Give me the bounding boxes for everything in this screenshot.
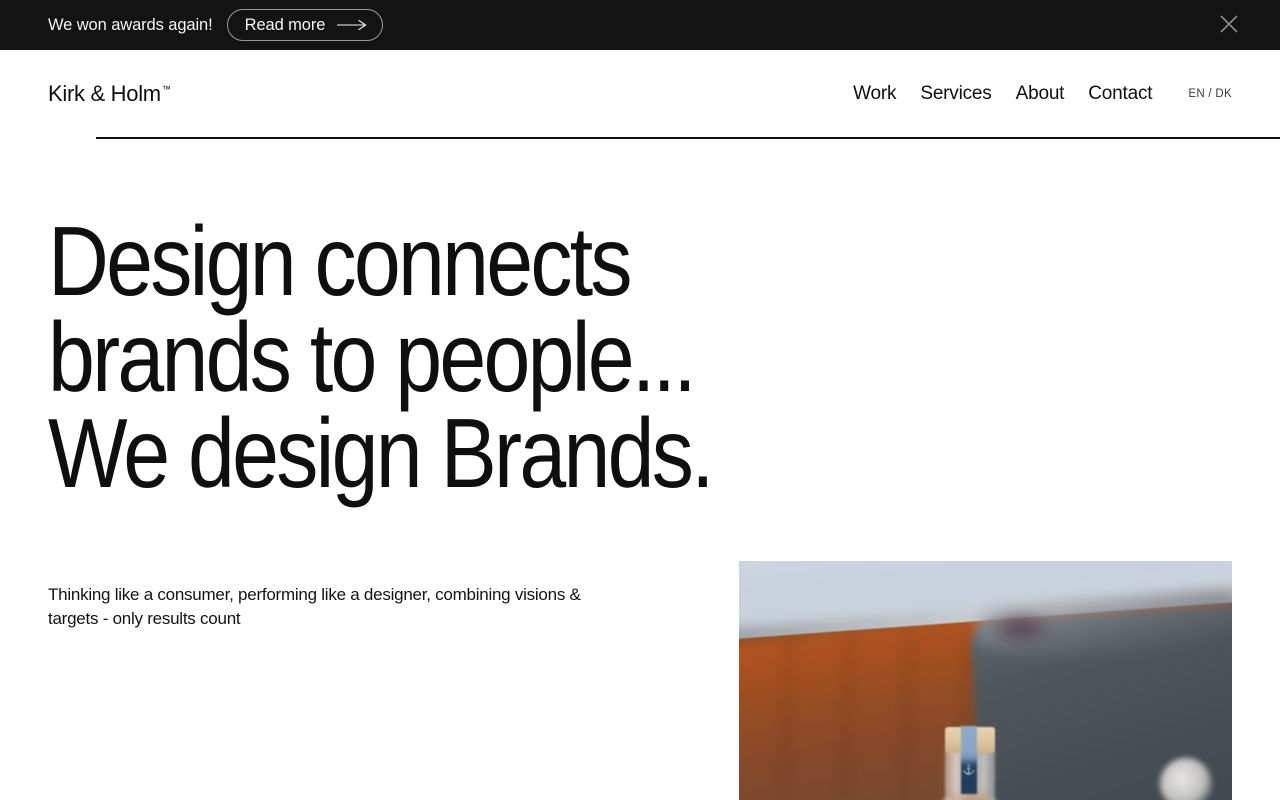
photo-bottle: ⚓ — [939, 721, 1001, 800]
hero-tagline: Thinking like a consumer, performing lik… — [48, 583, 608, 631]
announcement-banner: We won awards again! Read more — [0, 0, 1280, 50]
page-title: Design connects brands to people... We d… — [48, 213, 1066, 501]
hero-photo: ⚓ — [739, 561, 1232, 800]
site-header: Kirk & Holm™ Work Services About Contact… — [0, 50, 1280, 139]
close-icon — [1218, 13, 1240, 38]
nav-item-work[interactable]: Work — [853, 83, 908, 105]
announcement-message: We won awards again! — [48, 16, 213, 35]
nav-item-services[interactable]: Services — [908, 83, 1003, 105]
language-switcher[interactable]: EN / DK — [1188, 88, 1232, 100]
anchor-icon: ⚓ — [961, 763, 977, 779]
header-row: Kirk & Holm™ Work Services About Contact… — [48, 50, 1232, 137]
read-more-label: Read more — [245, 16, 326, 35]
bottle-liquid — [949, 793, 991, 800]
primary-navigation: Work Services About Contact EN / DK — [853, 83, 1232, 105]
hero-image: ⚓ — [739, 561, 1232, 800]
headline-line-3: We design Brands. — [48, 405, 1066, 501]
logo-wordmark: Kirk & Holm — [48, 81, 161, 106]
header-divider — [96, 137, 1280, 139]
arrow-right-icon — [337, 19, 367, 31]
announcement-banner-content: We won awards again! Read more — [0, 9, 383, 41]
headline-line-2: brands to people... — [48, 309, 1066, 405]
bottle-label-ribbon — [961, 726, 977, 794]
headline-line-1: Design connects — [48, 213, 1066, 309]
trademark-mark: ™ — [162, 84, 171, 94]
nav-item-about[interactable]: About — [1004, 83, 1077, 105]
read-more-button[interactable]: Read more — [227, 9, 384, 41]
photo-purple-blob — [986, 609, 1055, 647]
nav-item-contact[interactable]: Contact — [1076, 83, 1164, 105]
close-banner-button[interactable] — [1216, 12, 1242, 38]
site-logo[interactable]: Kirk & Holm™ — [48, 81, 171, 107]
